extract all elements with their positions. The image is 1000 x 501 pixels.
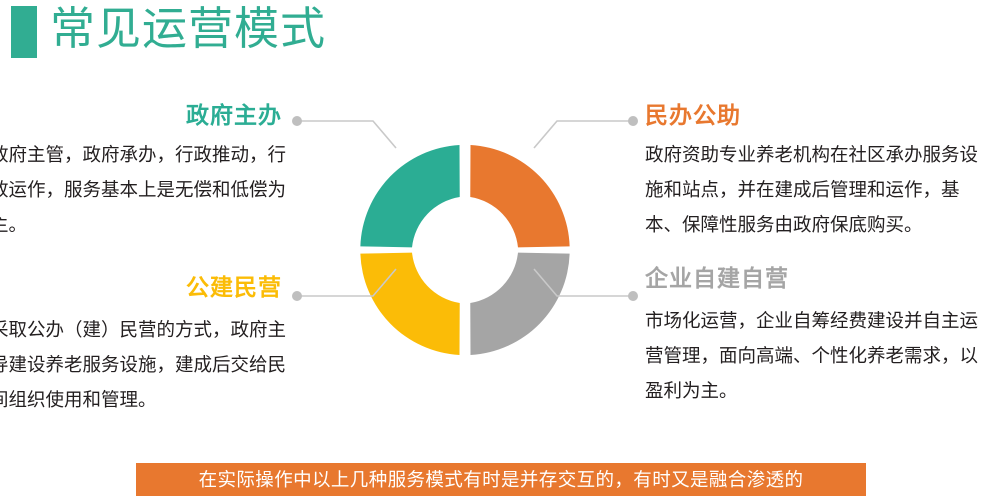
page-title: 常见运营模式 (50, 0, 326, 62)
quadrant-block-government-run: 政府主办 政府主管，政府承办，行政推动，行政运作，服务基本上是无偿和低偿为主。 (0, 100, 286, 242)
quadrant-heading-enterprise-self-built-self-operated: 企业自建自营 (645, 263, 995, 293)
slide-canvas: 常见运营模式 政府主办 政 (0, 0, 1000, 501)
donut-segment-public-built-private-operated (360, 253, 459, 355)
title-row: 常见运营模式 (0, 0, 1000, 70)
connector-dot-private-run-public-aided (628, 116, 638, 126)
footer-banner-text: 在实际操作中以上几种服务模式有时是并存交互的，有时又是融合渗透的 (199, 463, 804, 496)
connector-dot-public-built-private-operated (292, 291, 302, 301)
quadrant-body-private-run-public-aided: 政府资助专业养老机构在社区承办服务设施和站点，并在建成后管理和运作，基本、保障性… (645, 137, 995, 242)
quadrant-block-public-built-private-operated: 公建民营 采取公办（建）民营的方式，政府主导建设养老服务设施，建成后交给民间组织… (0, 272, 286, 417)
donut-segment-enterprise-self-built-self-operated (470, 253, 569, 355)
quadrant-heading-public-built-private-operated: 公建民营 (0, 272, 286, 302)
quadrant-body-enterprise-self-built-self-operated: 市场化运营，企业自筹经费建设并自主运营管理，面向高端、个性化养老需求，以盈利为主… (645, 303, 995, 408)
connector-dot-government-run (292, 116, 302, 126)
donut-quadrant-chart (355, 140, 575, 360)
quadrant-block-enterprise-self-built-self-operated: 企业自建自营 市场化运营，企业自筹经费建设并自主运营管理，面向高端、个性化养老需… (645, 263, 995, 408)
quadrant-block-private-run-public-aided: 民办公助 政府资助专业养老机构在社区承办服务设施和站点，并在建成后管理和运作，基… (645, 100, 995, 242)
donut-segment-private-run-public-aided (470, 145, 569, 247)
connector-dot-enterprise-self-built-self-operated (628, 291, 638, 301)
title-accent-bar (11, 6, 37, 58)
quadrant-heading-government-run: 政府主办 (0, 100, 286, 130)
footer-banner: 在实际操作中以上几种服务模式有时是并存交互的，有时又是融合渗透的 (136, 463, 866, 496)
donut-segment-government-run (360, 145, 459, 247)
quadrant-body-public-built-private-operated: 采取公办（建）民营的方式，政府主导建设养老服务设施，建成后交给民间组织使用和管理… (0, 312, 286, 417)
quadrant-body-government-run: 政府主管，政府承办，行政推动，行政运作，服务基本上是无偿和低偿为主。 (0, 137, 286, 242)
quadrant-heading-private-run-public-aided: 民办公助 (645, 100, 995, 130)
